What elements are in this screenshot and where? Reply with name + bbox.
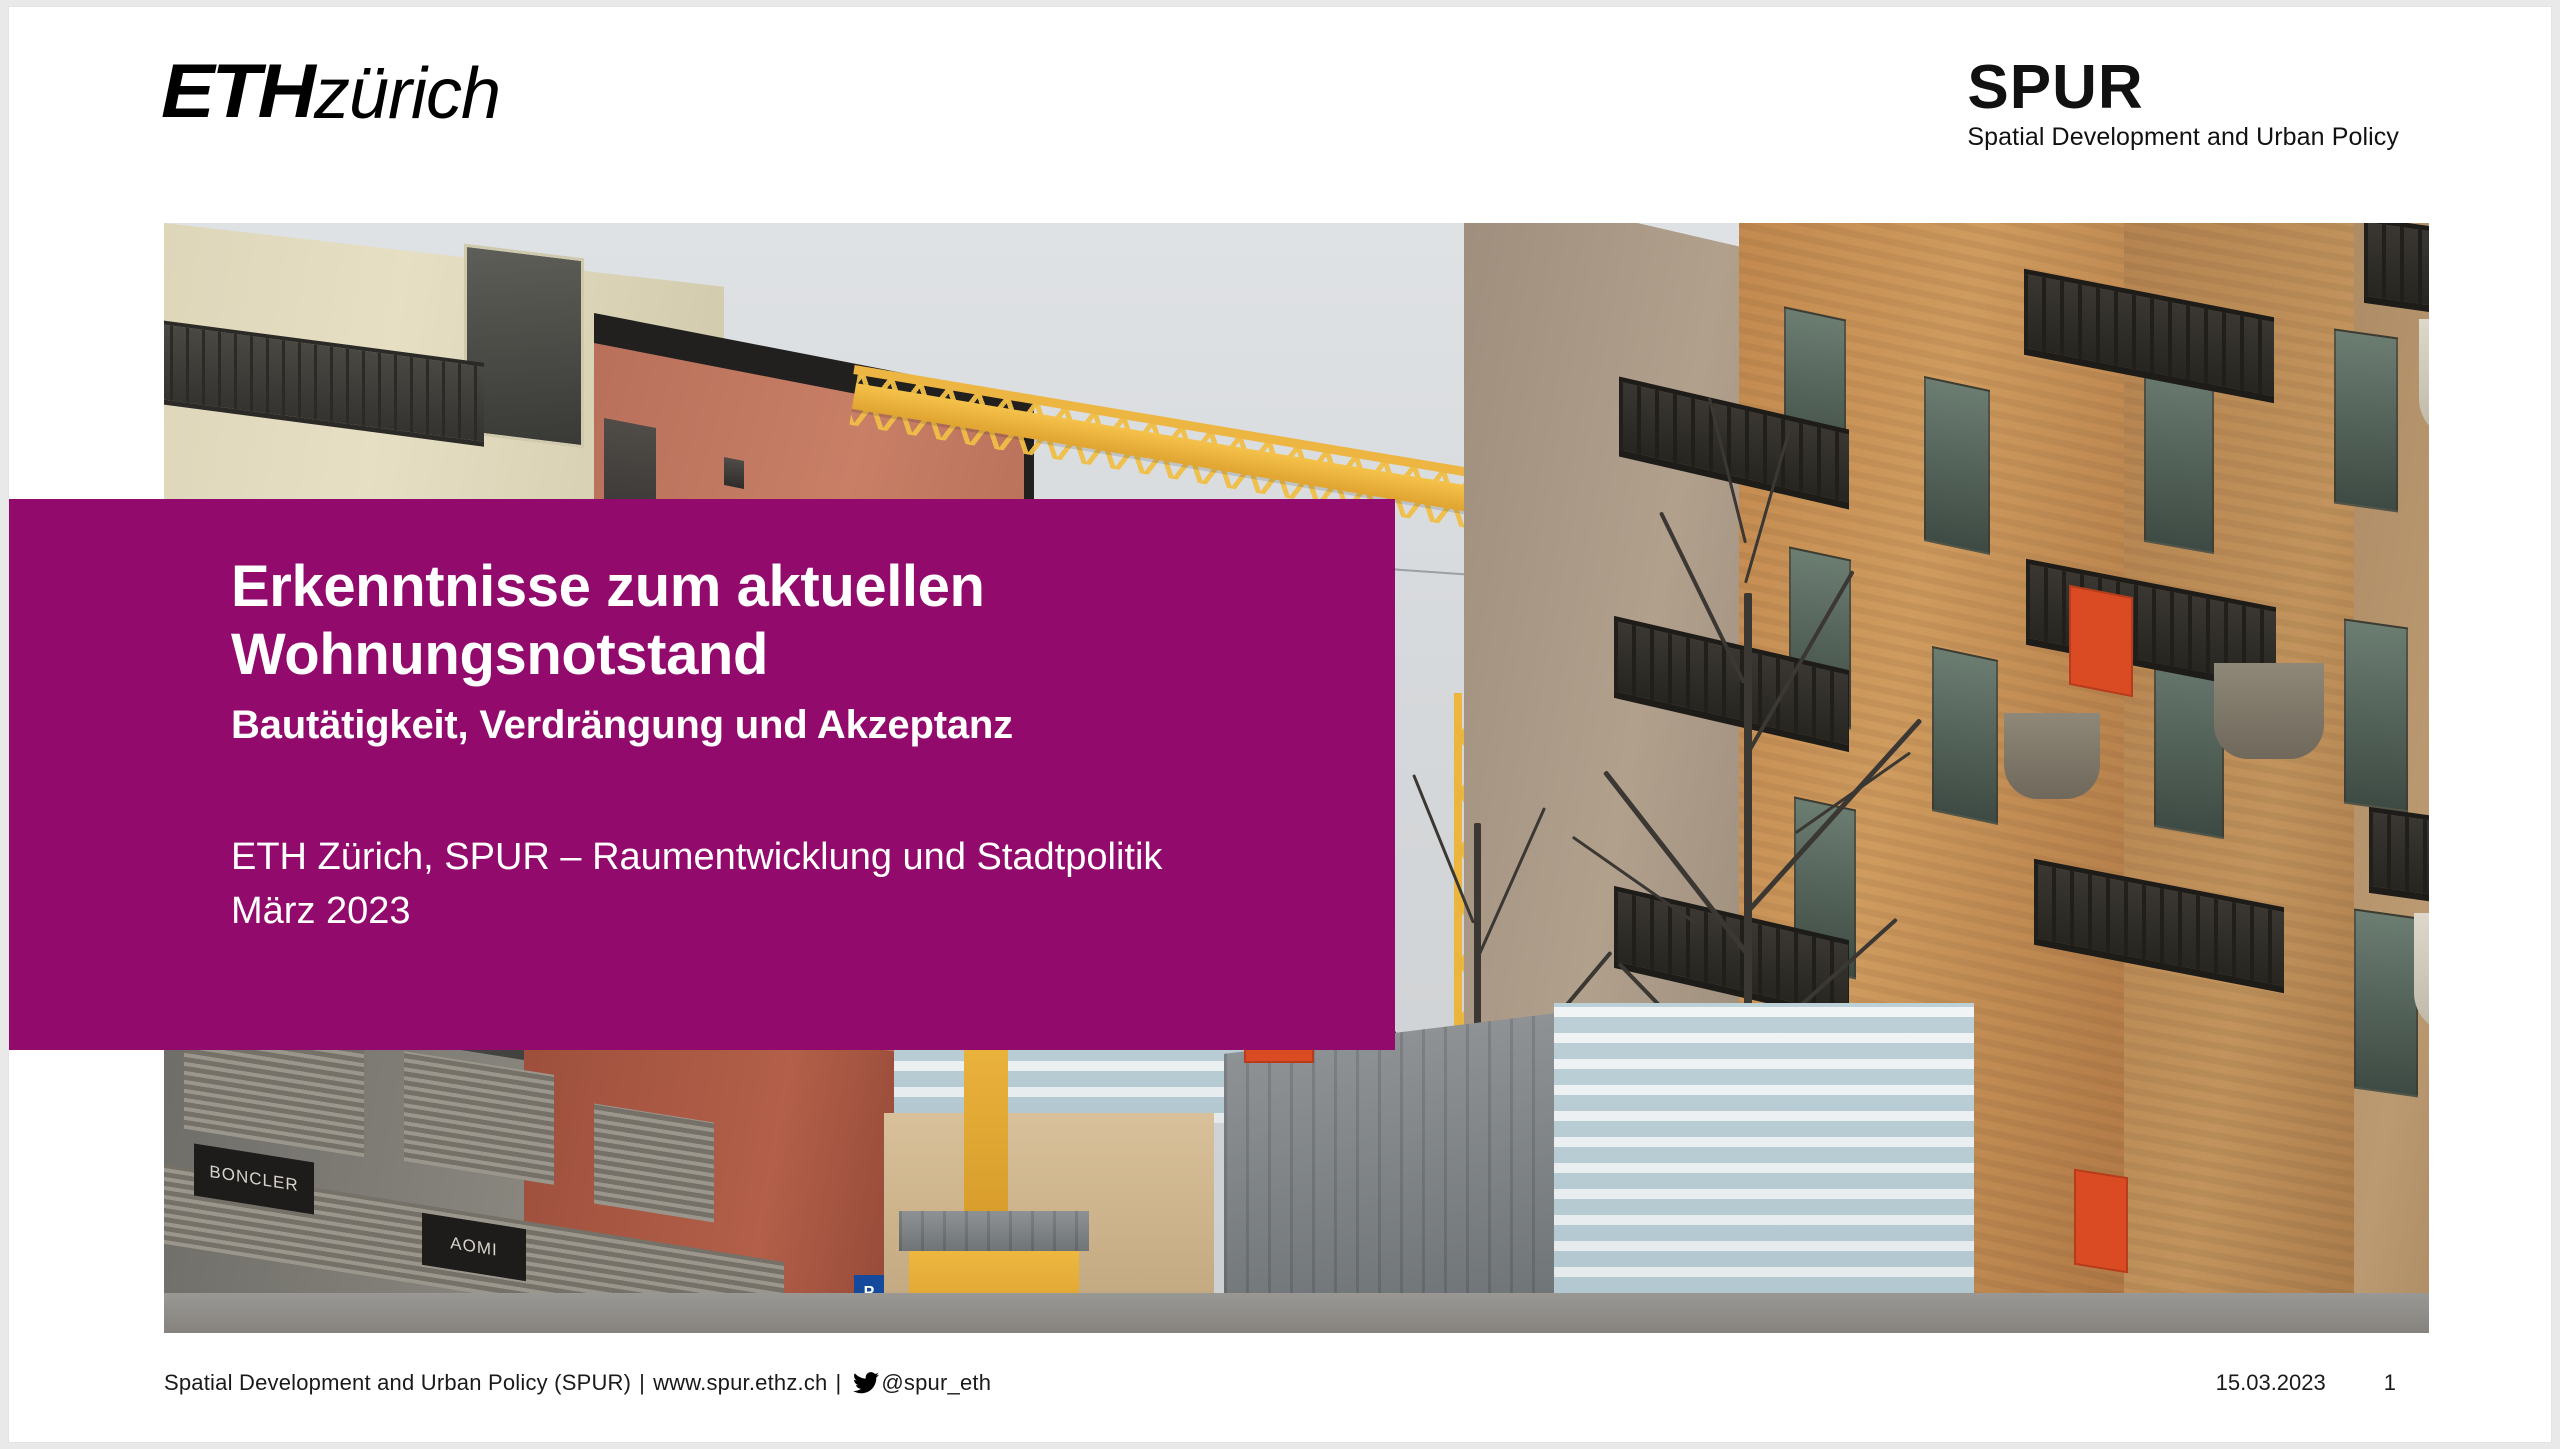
window xyxy=(2334,329,2398,513)
footer-right: 15.03.2023 1 xyxy=(2216,1370,2396,1396)
page-number: 1 xyxy=(2384,1370,2396,1396)
facade-corbel xyxy=(2214,663,2324,759)
facade-louvers xyxy=(594,1103,714,1222)
building-glass-far-right xyxy=(1554,1003,1974,1303)
footer-separator: | xyxy=(639,1370,645,1396)
spur-logo-mark: SPUR xyxy=(1967,57,2399,119)
spur-logo: SPUR Spatial Development and Urban Polic… xyxy=(1967,57,2399,152)
facade-louvers xyxy=(404,1051,554,1185)
page-subtitle: Bautätigkeit, Verdrängung und Akzeptanz xyxy=(231,701,1325,749)
spur-logo-subtitle: Spatial Development and Urban Policy xyxy=(1967,123,2399,152)
footer-website-link[interactable]: www.spur.ethz.ch xyxy=(653,1370,827,1396)
affiliation-line: ETH Zürich, SPUR – Raumentwicklung und S… xyxy=(231,831,1325,885)
eth-logo-mark: ETH xyxy=(161,57,313,127)
window xyxy=(724,457,744,489)
title-block: Erkenntnisse zum aktuellen Wohnungsnotst… xyxy=(9,499,1395,1050)
crane-ballast-block xyxy=(899,1211,1089,1251)
balcony-banner xyxy=(2069,585,2133,697)
presentation-date: März 2023 xyxy=(231,885,1325,939)
title-affiliation-block: ETH Zürich, SPUR – Raumentwicklung und S… xyxy=(231,831,1325,939)
window xyxy=(1932,646,1998,825)
footer-org: Spatial Development and Urban Policy (SP… xyxy=(164,1370,631,1396)
twitter-bird-icon[interactable] xyxy=(853,1372,879,1394)
page-title: Erkenntnisse zum aktuellen Wohnungsnotst… xyxy=(231,553,1325,689)
street-level-scene: BONCLER AOMI P xyxy=(164,1003,2429,1333)
presentation-slide: ETH zürich SPUR Spatial Development and … xyxy=(8,6,2552,1443)
footer-left: Spatial Development and Urban Policy (SP… xyxy=(164,1370,991,1396)
eth-logo-word: zürich xyxy=(314,61,500,127)
footer-separator: | xyxy=(835,1370,841,1396)
facade-corbel xyxy=(2004,713,2100,799)
window xyxy=(1924,376,1990,555)
street-surface xyxy=(164,1293,2429,1333)
footer-twitter-handle[interactable]: @spur_eth xyxy=(881,1370,991,1396)
eth-zurich-logo: ETH zürich xyxy=(161,55,500,127)
footer-date: 15.03.2023 xyxy=(2216,1370,2326,1396)
window xyxy=(2344,619,2408,813)
